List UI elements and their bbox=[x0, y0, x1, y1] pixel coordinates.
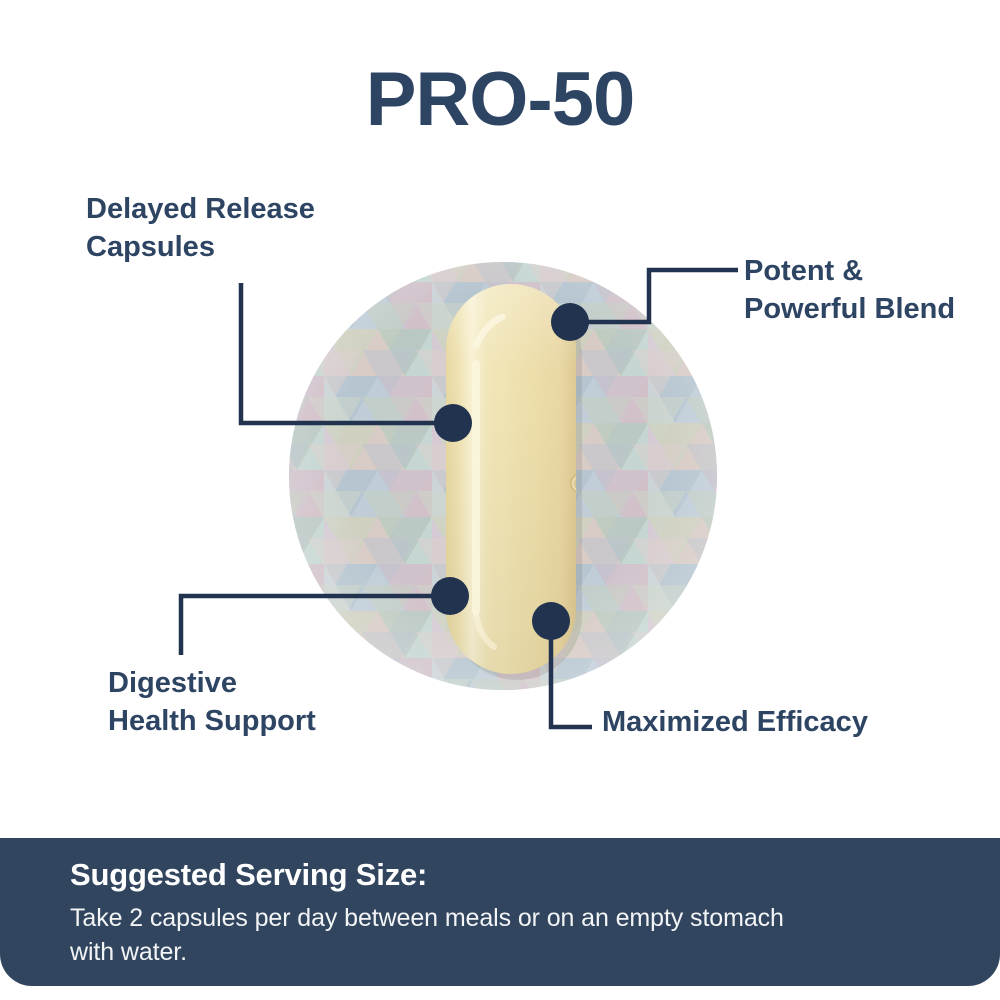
callout-label-delayed-release: Delayed Release Capsules bbox=[86, 190, 416, 267]
suggested-serving-banner: Suggested Serving Size: Take 2 capsules … bbox=[0, 838, 1000, 986]
serving-instructions: Take 2 capsules per day between meals or… bbox=[70, 902, 938, 969]
callout-dot-maximized-efficacy bbox=[532, 602, 570, 640]
callout-dot-digestive-health bbox=[431, 577, 469, 615]
callout-label-digestive-health: Digestive Health Support bbox=[108, 664, 438, 741]
callout-label-potent-blend: Potent & Powerful Blend bbox=[744, 252, 1000, 329]
serving-heading: Suggested Serving Size: bbox=[70, 858, 938, 892]
callout-dot-potent-blend bbox=[551, 303, 589, 341]
product-infographic: PRO-50 bbox=[0, 0, 1000, 1000]
callout-dot-delayed-release bbox=[434, 404, 472, 442]
callout-label-maximized-efficacy: Maximized Efficacy bbox=[602, 703, 942, 741]
